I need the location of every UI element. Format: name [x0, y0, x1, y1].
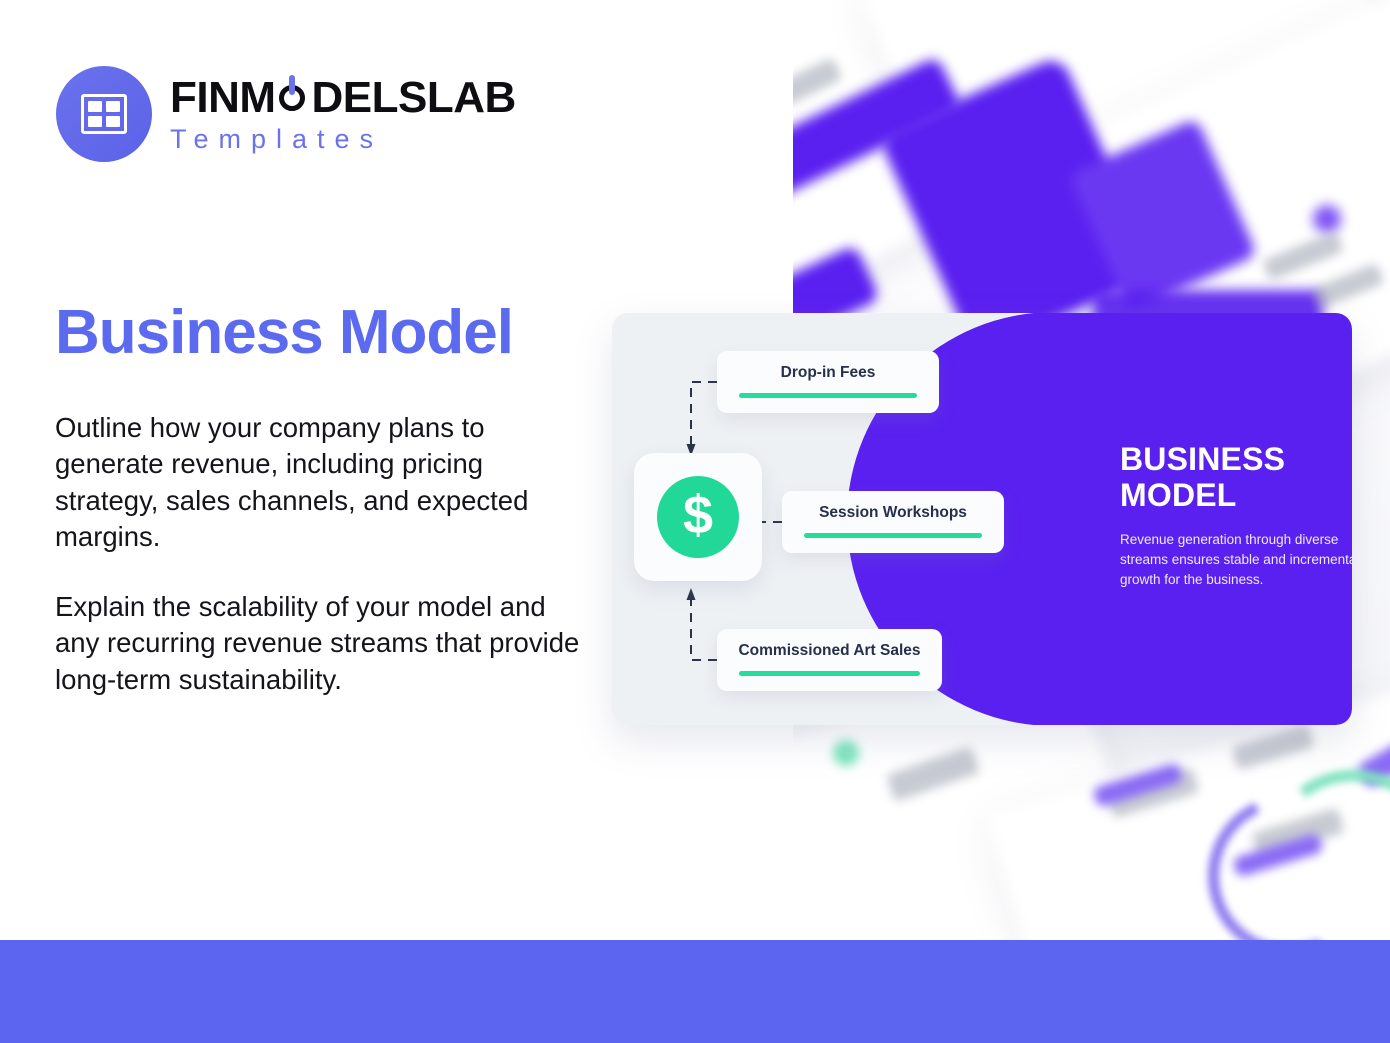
logo-circle-mark [56, 66, 152, 162]
logo-name-part1: FINM [170, 73, 276, 122]
logo-wordmark: FINMDELSLAB Templates [170, 76, 516, 153]
node-accent-bar [739, 671, 920, 676]
diagram-card: $ Drop-in Fees Session Workshops Commiss… [612, 313, 1352, 725]
page-title: Business Model [55, 300, 513, 365]
logo-name-part2: DELSLAB [312, 73, 516, 122]
logo-tagline: Templates [170, 126, 516, 153]
grid-2x2-icon [81, 94, 127, 134]
revenue-stream-node[interactable]: Drop-in Fees [717, 351, 939, 413]
panel-title-line-1: BUSINESS [1120, 441, 1285, 477]
panel-description: Revenue generation through diverse strea… [1120, 530, 1352, 591]
brand-logo: FINMDELSLAB Templates [56, 66, 516, 162]
node-label: Commissioned Art Sales [738, 642, 920, 660]
node-accent-bar [739, 393, 917, 398]
bg-purple-dot [1313, 205, 1341, 233]
panel-title-line-2: MODEL [1120, 477, 1237, 513]
dollar-sign-icon: $ [657, 476, 739, 558]
node-accent-bar [804, 533, 982, 538]
revenue-stream-node[interactable]: Commissioned Art Sales [717, 629, 942, 691]
power-o-icon [277, 81, 311, 115]
logo-company-name: FINMDELSLAB [170, 76, 516, 120]
body-paragraph-2: Explain the scalability of your model an… [55, 589, 585, 698]
body-paragraph-1: Outline how your company plans to genera… [55, 410, 585, 555]
footer-accent-bar [0, 940, 1390, 1043]
node-label: Drop-in Fees [781, 364, 876, 382]
bg-green-dot [833, 740, 859, 766]
revenue-center-tile: $ [634, 453, 762, 581]
node-label: Session Workshops [819, 504, 967, 522]
revenue-stream-node[interactable]: Session Workshops [782, 491, 1004, 553]
panel-content: BUSINESS MODEL Revenue generation throug… [1120, 441, 1330, 591]
panel-title: BUSINESS MODEL [1120, 441, 1330, 514]
slide-canvas: FINMDELSLAB Templates Business Model Out… [0, 0, 1390, 1043]
